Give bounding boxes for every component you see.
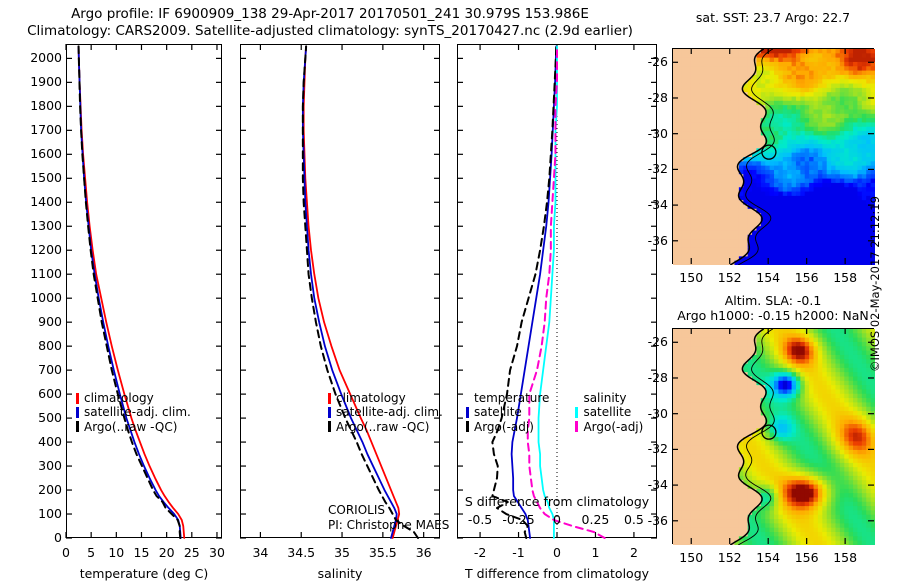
attribution-pi: PI: Christophe MAES <box>328 518 449 533</box>
salinity-legend: climatologysatellite-adj. clim.Argo(..ra… <box>328 391 443 434</box>
x-tick-label-panel-temperature-30: 30 <box>199 545 235 560</box>
map-y-tick-panel-sstmap--30: -30 <box>634 126 668 141</box>
series-temperature-satellite <box>512 46 557 538</box>
sla-map-title-line1: Altim. SLA: -0.1 <box>653 293 893 308</box>
x-axis-title-panel-difference: T difference from climatology <box>457 566 657 581</box>
legend-label: climatology <box>84 391 154 405</box>
y-tick-label-400: 400 <box>2 434 62 449</box>
map-y-tick-panel-slamap--36: -36 <box>634 513 668 528</box>
legend-row: climatology <box>76 391 191 405</box>
x-tick-label-panel-difference-0: 0 <box>539 545 575 560</box>
legend-swatch-icon <box>328 407 331 418</box>
map-y-tick-panel-slamap--28: -28 <box>634 370 668 385</box>
legend-swatch-icon <box>76 393 79 404</box>
legend-row: Argo(-adj) <box>466 420 549 434</box>
map-x-tick-panel-slamap-158: 158 <box>829 550 861 565</box>
y-tick-label-1200: 1200 <box>2 242 62 257</box>
sla-map-title-line2: Argo h1000: -0.15 h2000: NaN <box>653 308 893 323</box>
map-y-tick-panel-slamap--26: -26 <box>634 334 668 349</box>
map-y-tick-panel-sstmap--32: -32 <box>634 161 668 176</box>
map-y-tick-panel-slamap--34: -34 <box>634 477 668 492</box>
copyright-text: ©IMOS 02-May-2017 21:12:19 <box>868 192 882 372</box>
legend-swatch-icon <box>466 407 469 418</box>
x-tick-label-panel-difference-1: 1 <box>577 545 613 560</box>
map-x-tick-panel-slamap-150: 150 <box>675 550 707 565</box>
x-axis-title-panel-temperature: temperature (deg C) <box>66 566 222 581</box>
y-tick-label-1800: 1800 <box>2 98 62 113</box>
legend-label: satellite-adj. clim. <box>336 405 443 419</box>
map-y-tick-panel-sstmap--26: -26 <box>634 54 668 69</box>
plot-overlay <box>0 0 900 580</box>
legend-group: salinitysatelliteArgo(-adj) <box>575 391 643 434</box>
y-tick-label-1400: 1400 <box>2 194 62 209</box>
series-climatology <box>79 46 185 538</box>
legend-label: Argo(-adj) <box>474 420 534 434</box>
map-x-tick-panel-sstmap-154: 154 <box>752 270 784 285</box>
sla-map-title: Altim. SLA: -0.1Argo h1000: -0.15 h2000:… <box>653 293 893 323</box>
y-tick-label-1600: 1600 <box>2 146 62 161</box>
x-top-tick-label--0.25: -0.25 <box>497 512 541 527</box>
x-tick-label-panel-salinity-34.5: 34.5 <box>283 545 319 560</box>
series-argo-raw-qc- <box>303 46 418 538</box>
y-tick-label-100: 100 <box>2 506 62 521</box>
map-x-tick-panel-slamap-154: 154 <box>752 550 784 565</box>
legend-group-heading: temperature <box>474 391 549 405</box>
x-tick-label-panel-salinity-36: 36 <box>406 545 442 560</box>
map-x-tick-panel-slamap-152: 152 <box>714 550 746 565</box>
map-y-tick-panel-sstmap--28: -28 <box>634 90 668 105</box>
legend-label: satellite <box>583 405 631 419</box>
y-tick-label-900: 900 <box>2 314 62 329</box>
y-tick-label-1900: 1900 <box>2 74 62 89</box>
x-tick-label-panel-difference--2: -2 <box>462 545 498 560</box>
map-y-tick-panel-sstmap--34: -34 <box>634 197 668 212</box>
x-axis-title-panel-salinity: salinity <box>240 566 440 581</box>
legend-swatch-icon <box>575 421 578 432</box>
map-x-tick-panel-sstmap-156: 156 <box>791 270 823 285</box>
y-tick-label-1500: 1500 <box>2 170 62 185</box>
x-tick-label-panel-difference-2: 2 <box>616 545 652 560</box>
x-top-tick-label--0.5: -0.5 <box>458 512 502 527</box>
y-tick-label-200: 200 <box>2 482 62 497</box>
legend-label: climatology <box>336 391 406 405</box>
x-tick-label-panel-salinity-35.5: 35.5 <box>365 545 401 560</box>
y-tick-label-600: 600 <box>2 386 62 401</box>
x-tick-label-panel-difference--1: -1 <box>501 545 537 560</box>
legend-label: Argo(-adj) <box>583 420 643 434</box>
series-argo-raw-qc- <box>79 46 181 538</box>
legend-row: satellite <box>575 405 643 419</box>
y-tick-label-1300: 1300 <box>2 218 62 233</box>
attribution-centre: CORIOLIS <box>328 503 449 518</box>
legend-group: temperaturesatelliteArgo(-adj) <box>466 391 549 434</box>
x-top-tick-label-0: 0 <box>535 512 579 527</box>
legend-row: Argo(-adj) <box>575 420 643 434</box>
legend-label: Argo(..raw -QC) <box>336 420 429 434</box>
series-satellite-adj-clim- <box>79 46 181 538</box>
legend-row: satellite <box>466 405 549 419</box>
map-x-tick-panel-sstmap-150: 150 <box>675 270 707 285</box>
x-top-tick-label-0.25: 0.25 <box>573 512 617 527</box>
y-tick-label-1100: 1100 <box>2 266 62 281</box>
y-tick-label-800: 800 <box>2 338 62 353</box>
difference-legend: temperaturesatelliteArgo(-adj)salinitysa… <box>466 391 643 434</box>
y-tick-label-500: 500 <box>2 410 62 425</box>
legend-swatch-icon <box>575 407 578 418</box>
legend-swatch-icon <box>76 421 79 432</box>
sst-map-title: sat. SST: 23.7 Argo: 22.7 <box>653 10 893 25</box>
legend-label: Argo(..raw -QC) <box>84 420 177 434</box>
legend-row: climatology <box>328 391 443 405</box>
x-tick-label-panel-salinity-34: 34 <box>242 545 278 560</box>
legend-group-heading: salinity <box>583 391 643 405</box>
y-tick-label-700: 700 <box>2 362 62 377</box>
series-climatology <box>304 46 400 538</box>
legend-swatch-icon <box>76 407 79 418</box>
map-y-tick-panel-sstmap--36: -36 <box>634 233 668 248</box>
map-x-tick-panel-sstmap-152: 152 <box>714 270 746 285</box>
legend-row: satellite-adj. clim. <box>76 405 191 419</box>
y-tick-label-1700: 1700 <box>2 122 62 137</box>
legend-swatch-icon <box>328 421 331 432</box>
x-axis-title-top-panel-difference: S difference from climatology <box>457 494 657 509</box>
map-x-tick-panel-sstmap-158: 158 <box>829 270 861 285</box>
map-x-tick-panel-slamap-156: 156 <box>791 550 823 565</box>
temperature-legend: climatologysatellite-adj. clim.Argo(..ra… <box>76 391 191 434</box>
legend-label: satellite-adj. clim. <box>84 405 191 419</box>
legend-row: satellite-adj. clim. <box>328 405 443 419</box>
legend-swatch-icon <box>328 393 331 404</box>
legend-row: Argo(..raw -QC) <box>76 420 191 434</box>
legend-swatch-icon <box>466 421 469 432</box>
legend-label: satellite <box>474 405 522 419</box>
y-tick-label-300: 300 <box>2 458 62 473</box>
y-tick-label-1000: 1000 <box>2 290 62 305</box>
attribution-block: CORIOLIS PI: Christophe MAES <box>328 503 449 532</box>
y-tick-label-2000: 2000 <box>2 50 62 65</box>
map-y-tick-panel-slamap--32: -32 <box>634 441 668 456</box>
y-tick-label-0: 0 <box>2 530 62 545</box>
x-tick-label-panel-salinity-35: 35 <box>324 545 360 560</box>
legend-row: Argo(..raw -QC) <box>328 420 443 434</box>
